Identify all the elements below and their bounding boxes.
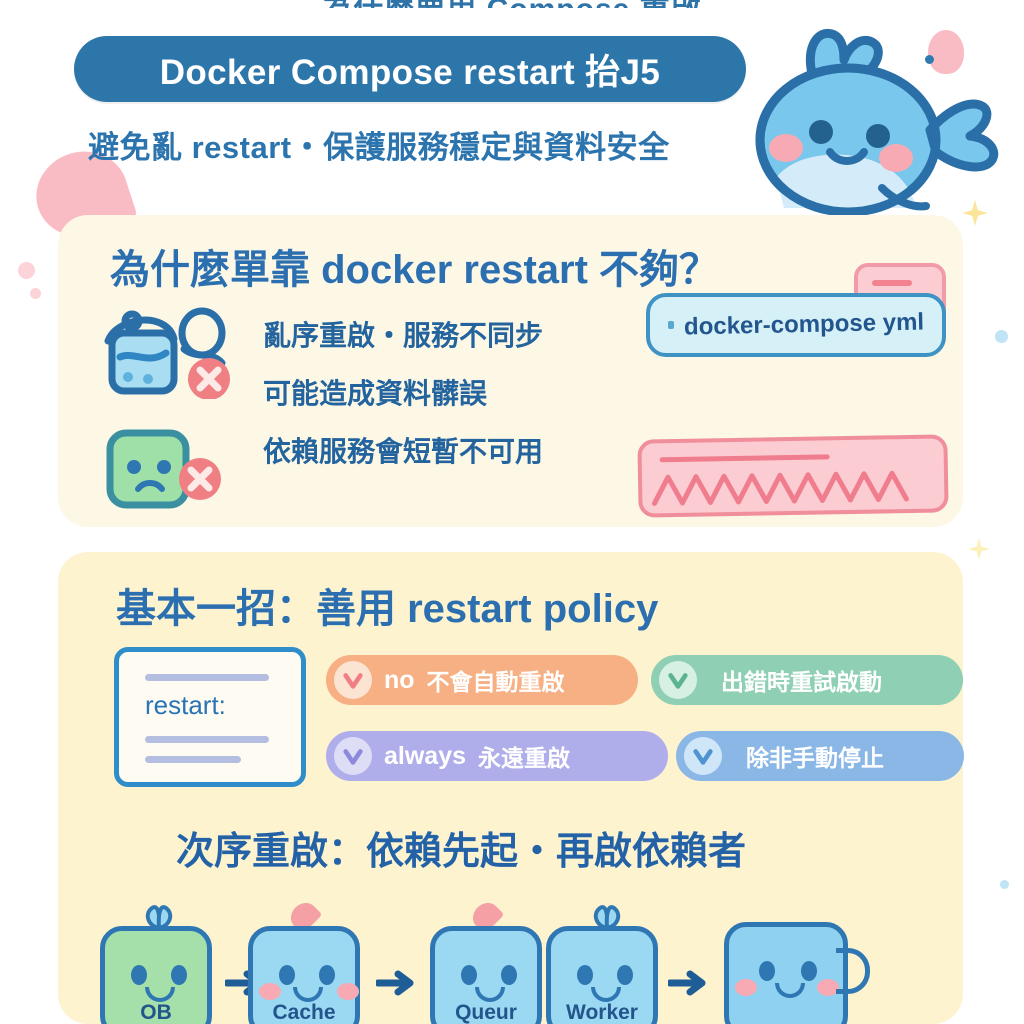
dot-decoration (995, 330, 1008, 343)
service-node-db[interactable]: OB (100, 926, 212, 1024)
bullet-item: 亂序重啟・服務不同步 (263, 307, 683, 365)
eye-icon (279, 965, 295, 985)
bullet-item: 依賴服務會短暫不可用 (263, 423, 683, 481)
eye-icon (131, 965, 147, 985)
order-restart-heading: 次序重啟：依賴先起・再啟依賴者 (176, 820, 746, 875)
service-node-mug[interactable] (724, 922, 848, 1024)
policy-card-heading: 基本一招：善用 restart policy (116, 576, 658, 634)
bullet-dot-icon (668, 321, 674, 329)
mouth-icon (775, 983, 805, 998)
cheek-icon (735, 979, 757, 996)
service-node-queue[interactable]: Queur (430, 926, 542, 1024)
why-bullet-list: 亂序重啟・服務不同步 可能造成資料髒誤 依賴服務會短暫不可用 (263, 307, 683, 481)
wave-card-bar (660, 454, 830, 462)
docker-compose-yml-badge[interactable]: docker-compose yml (646, 293, 946, 357)
bullet-item: 可能造成資料髒誤 (263, 365, 683, 423)
why-card: 為什麼單靠 docker restart 不夠？ (58, 215, 963, 527)
policy-desc: 除非手動停止 (746, 739, 884, 773)
service-node-worker[interactable]: Worker (546, 926, 658, 1024)
dot-decoration (1000, 880, 1009, 889)
yml-badge-label: docker-compose yml (684, 308, 925, 341)
mouth-icon (293, 987, 323, 1002)
code-placeholder-line (145, 674, 269, 681)
eye-icon (461, 965, 477, 985)
dot-decoration (18, 262, 35, 279)
page-subtitle: 避免亂 restart・保護服務穩定與資料安全 (88, 122, 748, 167)
policy-pill-unless-stopped[interactable]: 除非手動停止 (676, 731, 964, 781)
cheek-icon (337, 983, 359, 1000)
policy-pill-always[interactable]: always 永遠重啟 (326, 731, 668, 781)
service-label: Cache (253, 1001, 355, 1024)
code-placeholder-line (145, 756, 241, 763)
page-title-pill: Docker Compose restart 抬J5 (74, 36, 746, 102)
policy-key: no (384, 666, 415, 695)
restart-code-box: restart: (114, 647, 306, 787)
policy-desc: 不會自動重啟 (427, 663, 565, 697)
mouth-icon (475, 987, 505, 1002)
mouth-icon (591, 987, 621, 1002)
service-label: Worker (551, 1001, 653, 1024)
why-card-heading: 為什麼單靠 docker restart 不夠？ (110, 237, 719, 295)
restart-key-label: restart: (145, 690, 226, 721)
check-icon (684, 737, 722, 775)
service-label: Queur (435, 1001, 537, 1024)
eye-icon (617, 965, 633, 985)
arrow-icon (668, 970, 712, 996)
cheek-icon (259, 983, 281, 1000)
page-title: Docker Compose restart 抬J5 (160, 44, 661, 95)
policy-desc: 出錯時重試啟動 (721, 663, 882, 697)
eye-icon (801, 961, 817, 981)
check-icon (334, 737, 372, 775)
cut-off-top-heading: 為什麼要用 Compose 重啟 (0, 0, 1024, 8)
eye-icon (501, 965, 517, 985)
code-placeholder-line (145, 736, 269, 743)
eye-icon (319, 965, 335, 985)
pink-wave-card (637, 434, 948, 517)
broken-jar-icon (104, 307, 254, 399)
note-line (872, 280, 912, 286)
arrow-icon (376, 970, 420, 996)
check-icon (334, 661, 372, 699)
policy-desc: 永遠重啟 (478, 739, 570, 773)
check-icon (659, 661, 697, 699)
policy-pill-on-failure[interactable]: 出錯時重試啟動 (651, 655, 963, 705)
service-chain: OB Cache Queur Worker (100, 908, 924, 1024)
policy-pill-no[interactable]: no 不會自動重啟 (326, 655, 638, 705)
mouth-icon (145, 987, 175, 1002)
eye-icon (759, 961, 775, 981)
whale-mascot-icon (744, 12, 1012, 227)
service-node-cache[interactable]: Cache (248, 926, 360, 1024)
eye-icon (577, 965, 593, 985)
sparkle-icon (968, 538, 990, 560)
service-label: OB (105, 1001, 207, 1024)
dot-decoration (30, 288, 41, 299)
eye-icon (171, 965, 187, 985)
sad-container-icon (104, 423, 232, 513)
policy-key: always (384, 742, 466, 771)
mug-handle-icon (836, 948, 870, 994)
